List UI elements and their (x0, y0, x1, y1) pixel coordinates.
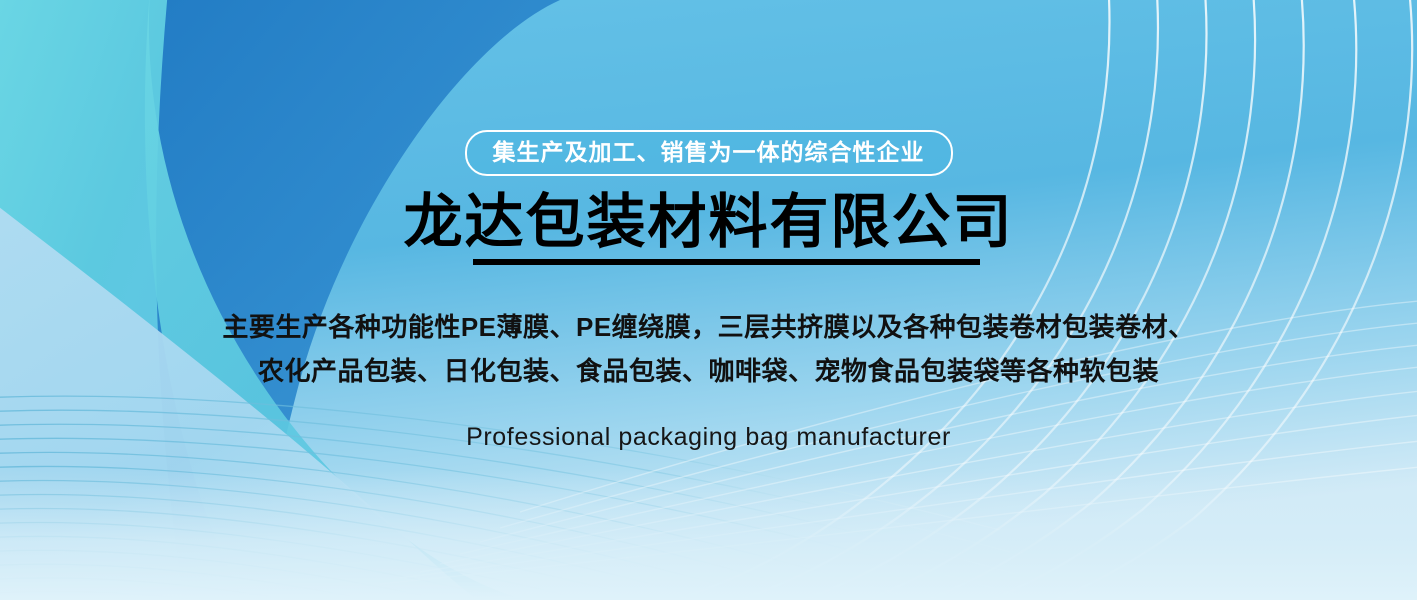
english-tagline: Professional packaging bag manufacturer (0, 420, 1417, 454)
description-line-2: 农化产品包装、日化包装、食品包装、咖啡袋、宠物食品包装袋等各种软包装 (0, 349, 1417, 393)
tagline-badge: 集生产及加工、销售为一体的综合性企业 (465, 130, 953, 176)
company-title: 龙达包装材料有限公司 (403, 186, 1013, 258)
banner-content: 集生产及加工、销售为一体的综合性企业 龙达包装材料有限公司 主要生产各种功能性P… (0, 0, 1417, 600)
description-block: 主要生产各种功能性PE薄膜、PE缠绕膜，三层共挤膜以及各种包装卷材包装卷材、 农… (0, 305, 1417, 393)
description-line-1: 主要生产各种功能性PE薄膜、PE缠绕膜，三层共挤膜以及各种包装卷材包装卷材、 (0, 305, 1417, 349)
title-underline-rule (473, 259, 980, 265)
promotional-banner: 集生产及加工、销售为一体的综合性企业 龙达包装材料有限公司 主要生产各种功能性P… (0, 0, 1417, 600)
